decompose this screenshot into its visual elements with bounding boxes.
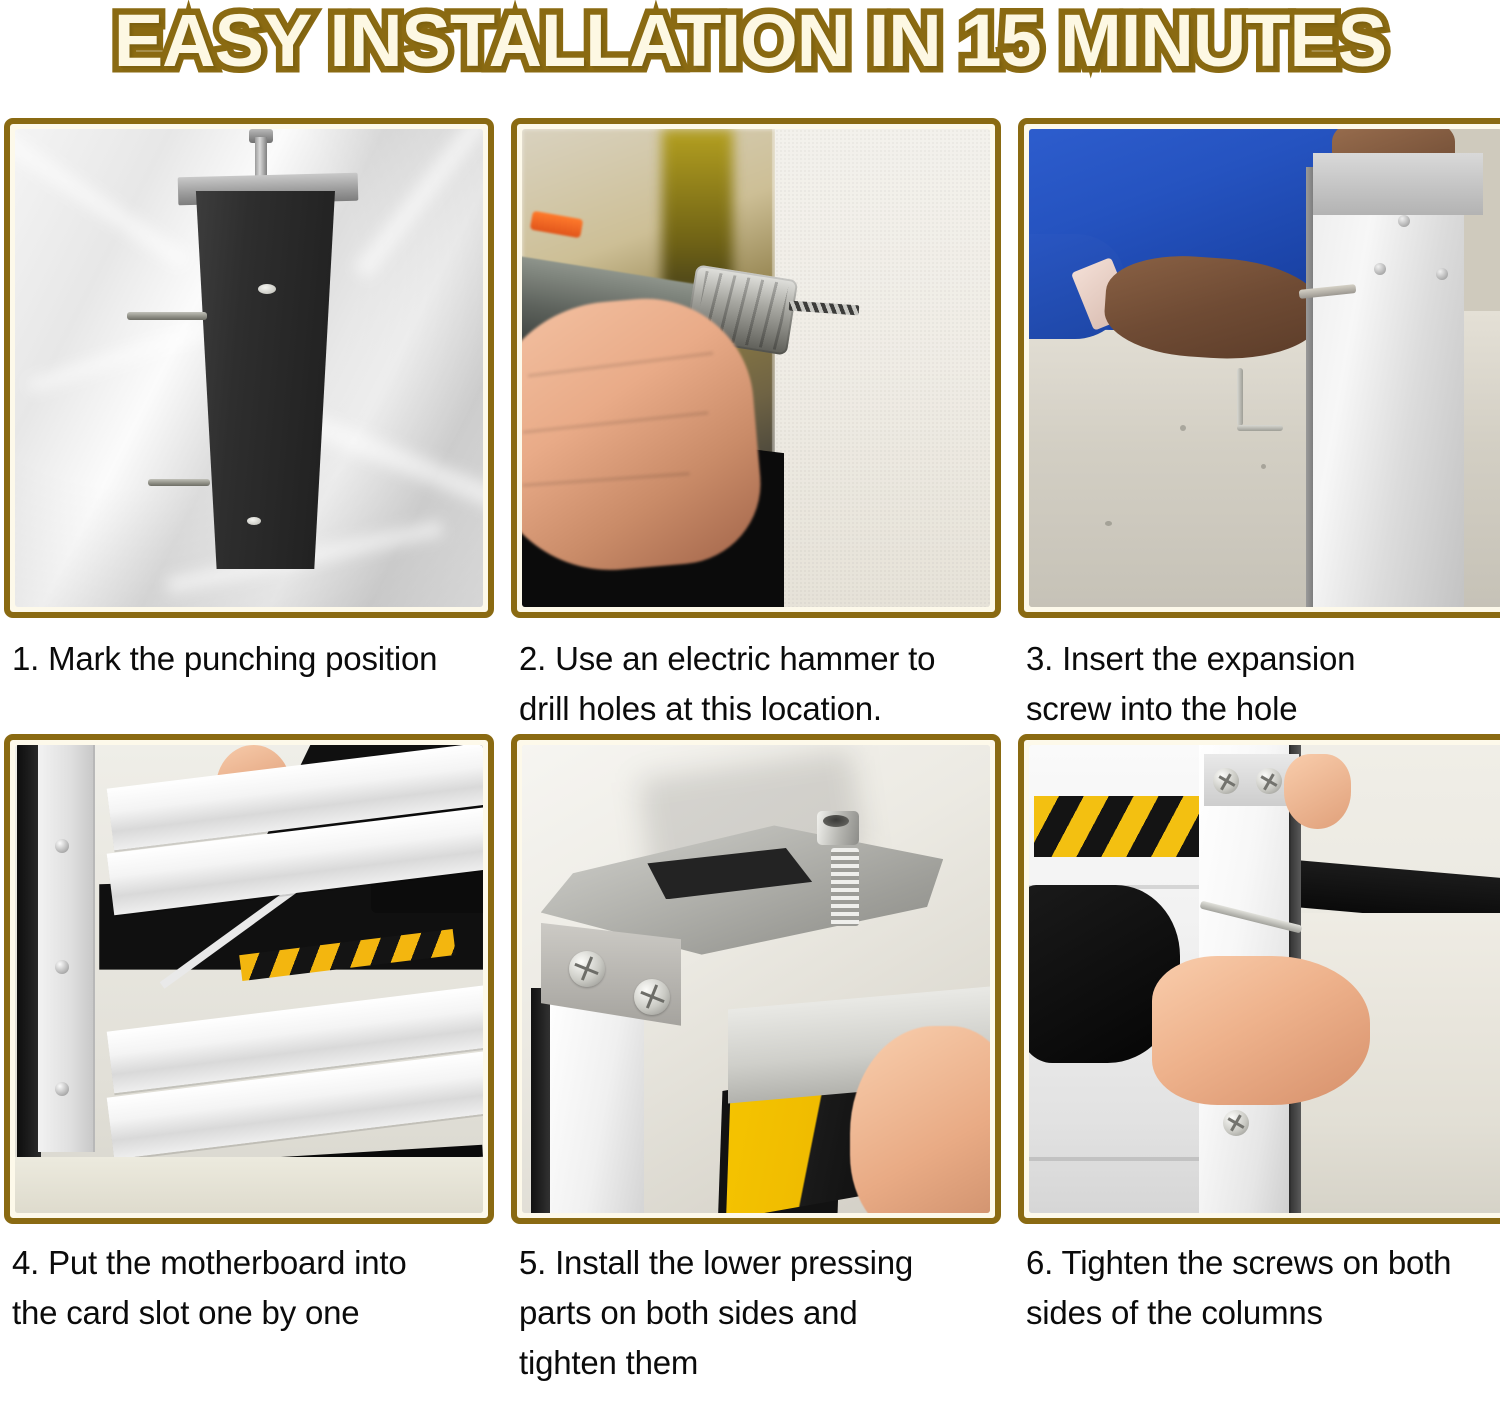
step-caption-5: 5. Install the lower pressing parts on b… [511,1224,1001,1388]
step-card-3: 3. Insert the expansion screw into the h… [1018,118,1500,734]
step-card-2: 2. Use an electric hammer to drill holes… [511,118,1001,734]
step-caption-2: 2. Use an electric hammer to drill holes… [511,618,1001,734]
installation-steps-grid: 1. Mark the punching position 2. Use [0,118,1500,1388]
step-photo-frame-4 [4,734,494,1224]
mounting-pin-upper [127,312,207,320]
step-caption-1: 1. Mark the punching position [4,618,494,684]
phillips-screw-icon [1223,1110,1249,1136]
step-photo-5 [522,745,990,1213]
step-photo-frame-1 [4,118,494,618]
step-photo-1 [15,129,483,607]
step-photo-4 [15,745,483,1213]
page-title: EASY INSTALLATION IN 15 MINUTES [114,2,1386,80]
step-photo-2 [522,129,990,607]
step-card-1: 1. Mark the punching position [4,118,494,734]
step-card-5: 5. Install the lower pressing parts on b… [511,734,1001,1388]
step-photo-6 [1029,745,1500,1213]
step-photo-3 [1029,129,1500,607]
step-caption-4: 4. Put the motherboard into the card slo… [4,1224,494,1338]
banner-title-bar: EASY INSTALLATION IN 15 MINUTES [0,0,1500,118]
step-photo-frame-2 [511,118,1001,618]
step-caption-3: 3. Insert the expansion screw into the h… [1018,618,1500,734]
hazard-stripe [1034,796,1214,857]
mounting-pin-lower [148,479,210,486]
wall-surface [775,129,990,607]
step-card-6: 6. Tighten the screws on both sides of t… [1018,734,1500,1388]
white-column [1313,153,1464,607]
phillips-screw-icon [569,951,605,987]
step-caption-6: 6. Tighten the screws on both sides of t… [1018,1224,1500,1338]
hex-bolt-shaft-icon [831,848,859,926]
step-photo-frame-3 [1018,118,1500,618]
hand-icon [1152,956,1370,1106]
hand-icon [1284,754,1350,829]
step-photo-frame-6 [1018,734,1500,1224]
mounting-hole-upper [258,284,276,294]
step-photo-frame-5 [511,734,1001,1224]
mounting-hole-lower [247,517,261,525]
step-card-4: 4. Put the motherboard into the card slo… [4,734,494,1388]
allen-key-icon [1237,368,1243,426]
